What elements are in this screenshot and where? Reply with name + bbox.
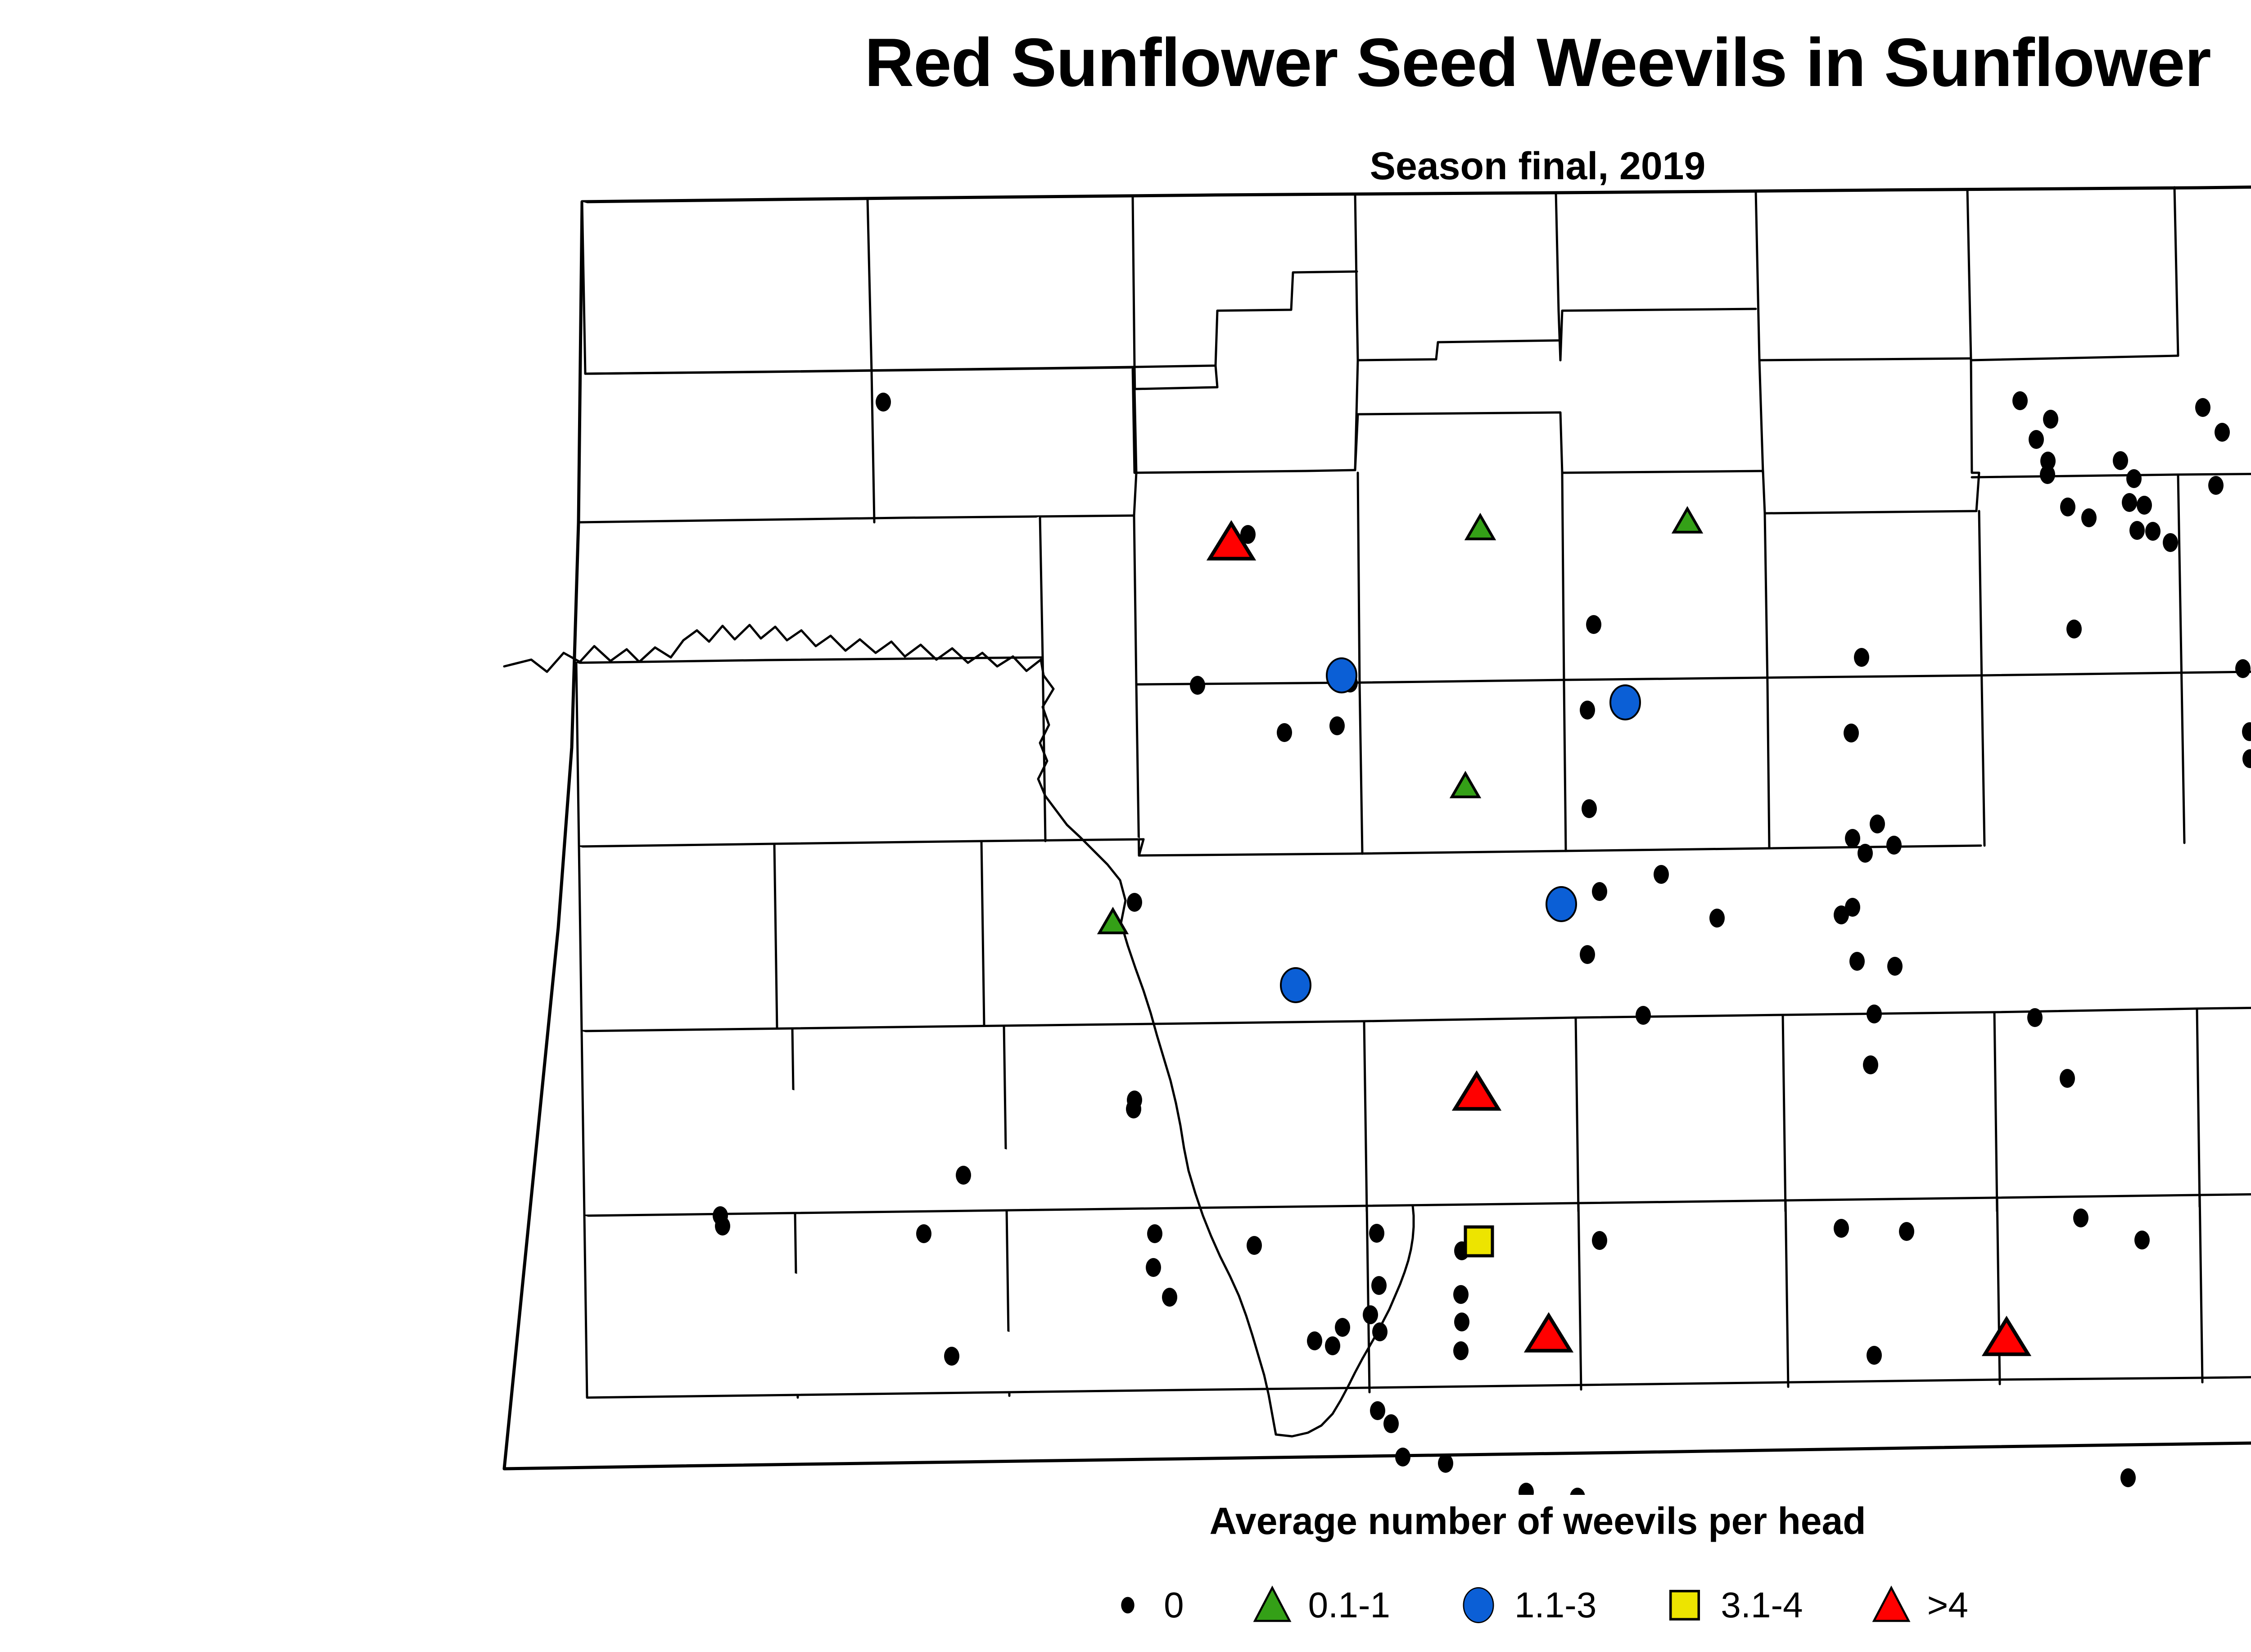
legend-item-4[interactable]: >4 xyxy=(1871,1584,1968,1626)
map-point-0 xyxy=(1899,1222,1914,1241)
map-point-0 xyxy=(1867,1005,1882,1023)
map-point-0 xyxy=(1845,829,1860,848)
county-line-tier2b xyxy=(1040,516,1134,516)
map-point-1.13 xyxy=(1546,887,1576,921)
map-point-0 xyxy=(1146,1258,1161,1277)
map-point-0 xyxy=(1247,1236,1262,1255)
map-point-0 xyxy=(1845,898,1860,917)
legend-item-label: >4 xyxy=(1927,1587,1968,1623)
map-point-0 xyxy=(1858,844,1873,863)
legend-item-label: 0.1-1 xyxy=(1308,1587,1390,1623)
map-point-0 xyxy=(2060,498,2075,516)
county-line-shape8 xyxy=(1763,471,1979,513)
page-title: Red Sunflower Seed Weevils in Sunflower xyxy=(0,27,2251,99)
map-point-0 xyxy=(1849,952,1865,971)
map-point-0 xyxy=(1570,1488,1585,1495)
map-point-0 xyxy=(1854,648,1869,667)
map-point-0 xyxy=(2215,423,2230,442)
black-dot-icon xyxy=(1107,1584,1148,1626)
legend-title: Average number of weevils per head xyxy=(0,1499,2251,1543)
map-point-0 xyxy=(2012,391,2028,410)
map-point-0 xyxy=(2235,659,2251,678)
map-point-0 xyxy=(1147,1224,1162,1243)
map-point-0 xyxy=(2145,522,2161,541)
map-point-0 xyxy=(1277,723,1292,742)
north-dakota-county-map xyxy=(0,162,2251,1495)
map-point-3.14 xyxy=(1465,1227,1492,1256)
map-point-0 xyxy=(2208,476,2224,495)
map-point-0 xyxy=(1363,1305,1378,1324)
map-point-0 xyxy=(2129,521,2145,540)
map-point-1.13 xyxy=(1610,685,1640,720)
legend-item-3.14[interactable]: 3.1-4 xyxy=(1664,1584,1803,1626)
map-point-0 xyxy=(1870,815,1885,833)
map-point-0 xyxy=(1371,1276,1387,1295)
map-point-0 xyxy=(2122,493,2137,512)
green-triangle-icon xyxy=(1252,1584,1293,1626)
map-point-0 xyxy=(944,1347,959,1366)
map-page: Red Sunflower Seed Weevils in Sunflower … xyxy=(0,0,2251,1652)
map-point-0 xyxy=(1453,1341,1469,1360)
map-point-0 xyxy=(1395,1448,1410,1466)
map-point-0 xyxy=(1887,957,1903,976)
map-point-0 xyxy=(1834,1219,1849,1238)
yellow-square-icon xyxy=(1664,1584,1705,1626)
map-point-1.13 xyxy=(1327,658,1356,692)
map-point-0 xyxy=(1438,1454,1453,1473)
map-point-0 xyxy=(2027,1008,2043,1027)
map-point-0 xyxy=(2043,410,2058,429)
legend-item-label: 3.1-4 xyxy=(1721,1587,1803,1623)
map-point-0 xyxy=(2134,1231,2150,1249)
map-point-0 xyxy=(2163,533,2178,552)
map-point-0 xyxy=(1383,1414,1399,1433)
map-point-0 xyxy=(1325,1336,1340,1355)
map-point-0 xyxy=(1372,1322,1388,1341)
map-point-0 xyxy=(1582,799,1597,818)
blue-circle-icon xyxy=(1458,1584,1499,1626)
map-point-1.13 xyxy=(1281,968,1311,1002)
map-point-0 xyxy=(1863,1055,1878,1074)
map-point-0 xyxy=(1454,1313,1469,1331)
map-point-0 xyxy=(2066,620,2082,638)
map-point-0 xyxy=(2081,508,2097,527)
map-point-0 xyxy=(2113,451,2128,470)
map-point-0 xyxy=(2060,1069,2075,1088)
map-point-0 xyxy=(2137,496,2152,515)
map-point-0 xyxy=(1654,865,1669,884)
map-point-0 xyxy=(2040,465,2055,484)
legend: 00.1-11.1-33.1-4>4 xyxy=(0,1562,2251,1648)
map-point-0 xyxy=(1126,1100,1141,1118)
legend-item-label: 0 xyxy=(1164,1587,1184,1623)
map-point-0 xyxy=(1580,701,1595,720)
map-point-0 xyxy=(1886,836,1902,855)
map-point-0 xyxy=(1586,615,1601,634)
map-point-0 xyxy=(1709,909,1725,928)
map-point-0 xyxy=(2195,398,2210,417)
legend-item-1.13[interactable]: 1.1-3 xyxy=(1458,1584,1596,1626)
map-point-0 xyxy=(1592,882,1607,901)
map-point-0 xyxy=(1307,1331,1322,1350)
map-point-0 xyxy=(1636,1006,1651,1025)
map-point-0 xyxy=(1127,893,1142,912)
map-point-0 xyxy=(1329,716,1345,735)
red-triangle-icon xyxy=(1871,1584,1912,1626)
legend-item-label: 1.1-3 xyxy=(1514,1587,1596,1623)
map-point-0 xyxy=(1519,1483,1534,1495)
map-point-0 xyxy=(1592,1231,1607,1250)
map-point-0 xyxy=(1335,1318,1350,1337)
map-point-0 xyxy=(916,1224,931,1243)
map-point-0 xyxy=(2126,469,2142,488)
map-point-0 xyxy=(2120,1468,2136,1487)
map-point-0 xyxy=(1370,1401,1385,1420)
map-point-0 xyxy=(715,1217,730,1236)
map-point-0 xyxy=(1844,724,1859,742)
map-point-0 xyxy=(2073,1208,2088,1227)
legend-item-0.11[interactable]: 0.1-1 xyxy=(1252,1584,1390,1626)
map-point-0 xyxy=(876,393,891,412)
map-point-0 xyxy=(1580,945,1595,964)
map-point-0 xyxy=(1190,676,1205,695)
map-point-0 xyxy=(1453,1285,1469,1304)
legend-item-0[interactable]: 0 xyxy=(1107,1584,1184,1626)
map-point-0 xyxy=(1162,1288,1177,1307)
map-point-0 xyxy=(2029,430,2044,449)
map-point-0 xyxy=(1369,1224,1384,1243)
map-point-0 xyxy=(956,1166,971,1185)
map-point-0 xyxy=(1867,1346,1882,1365)
